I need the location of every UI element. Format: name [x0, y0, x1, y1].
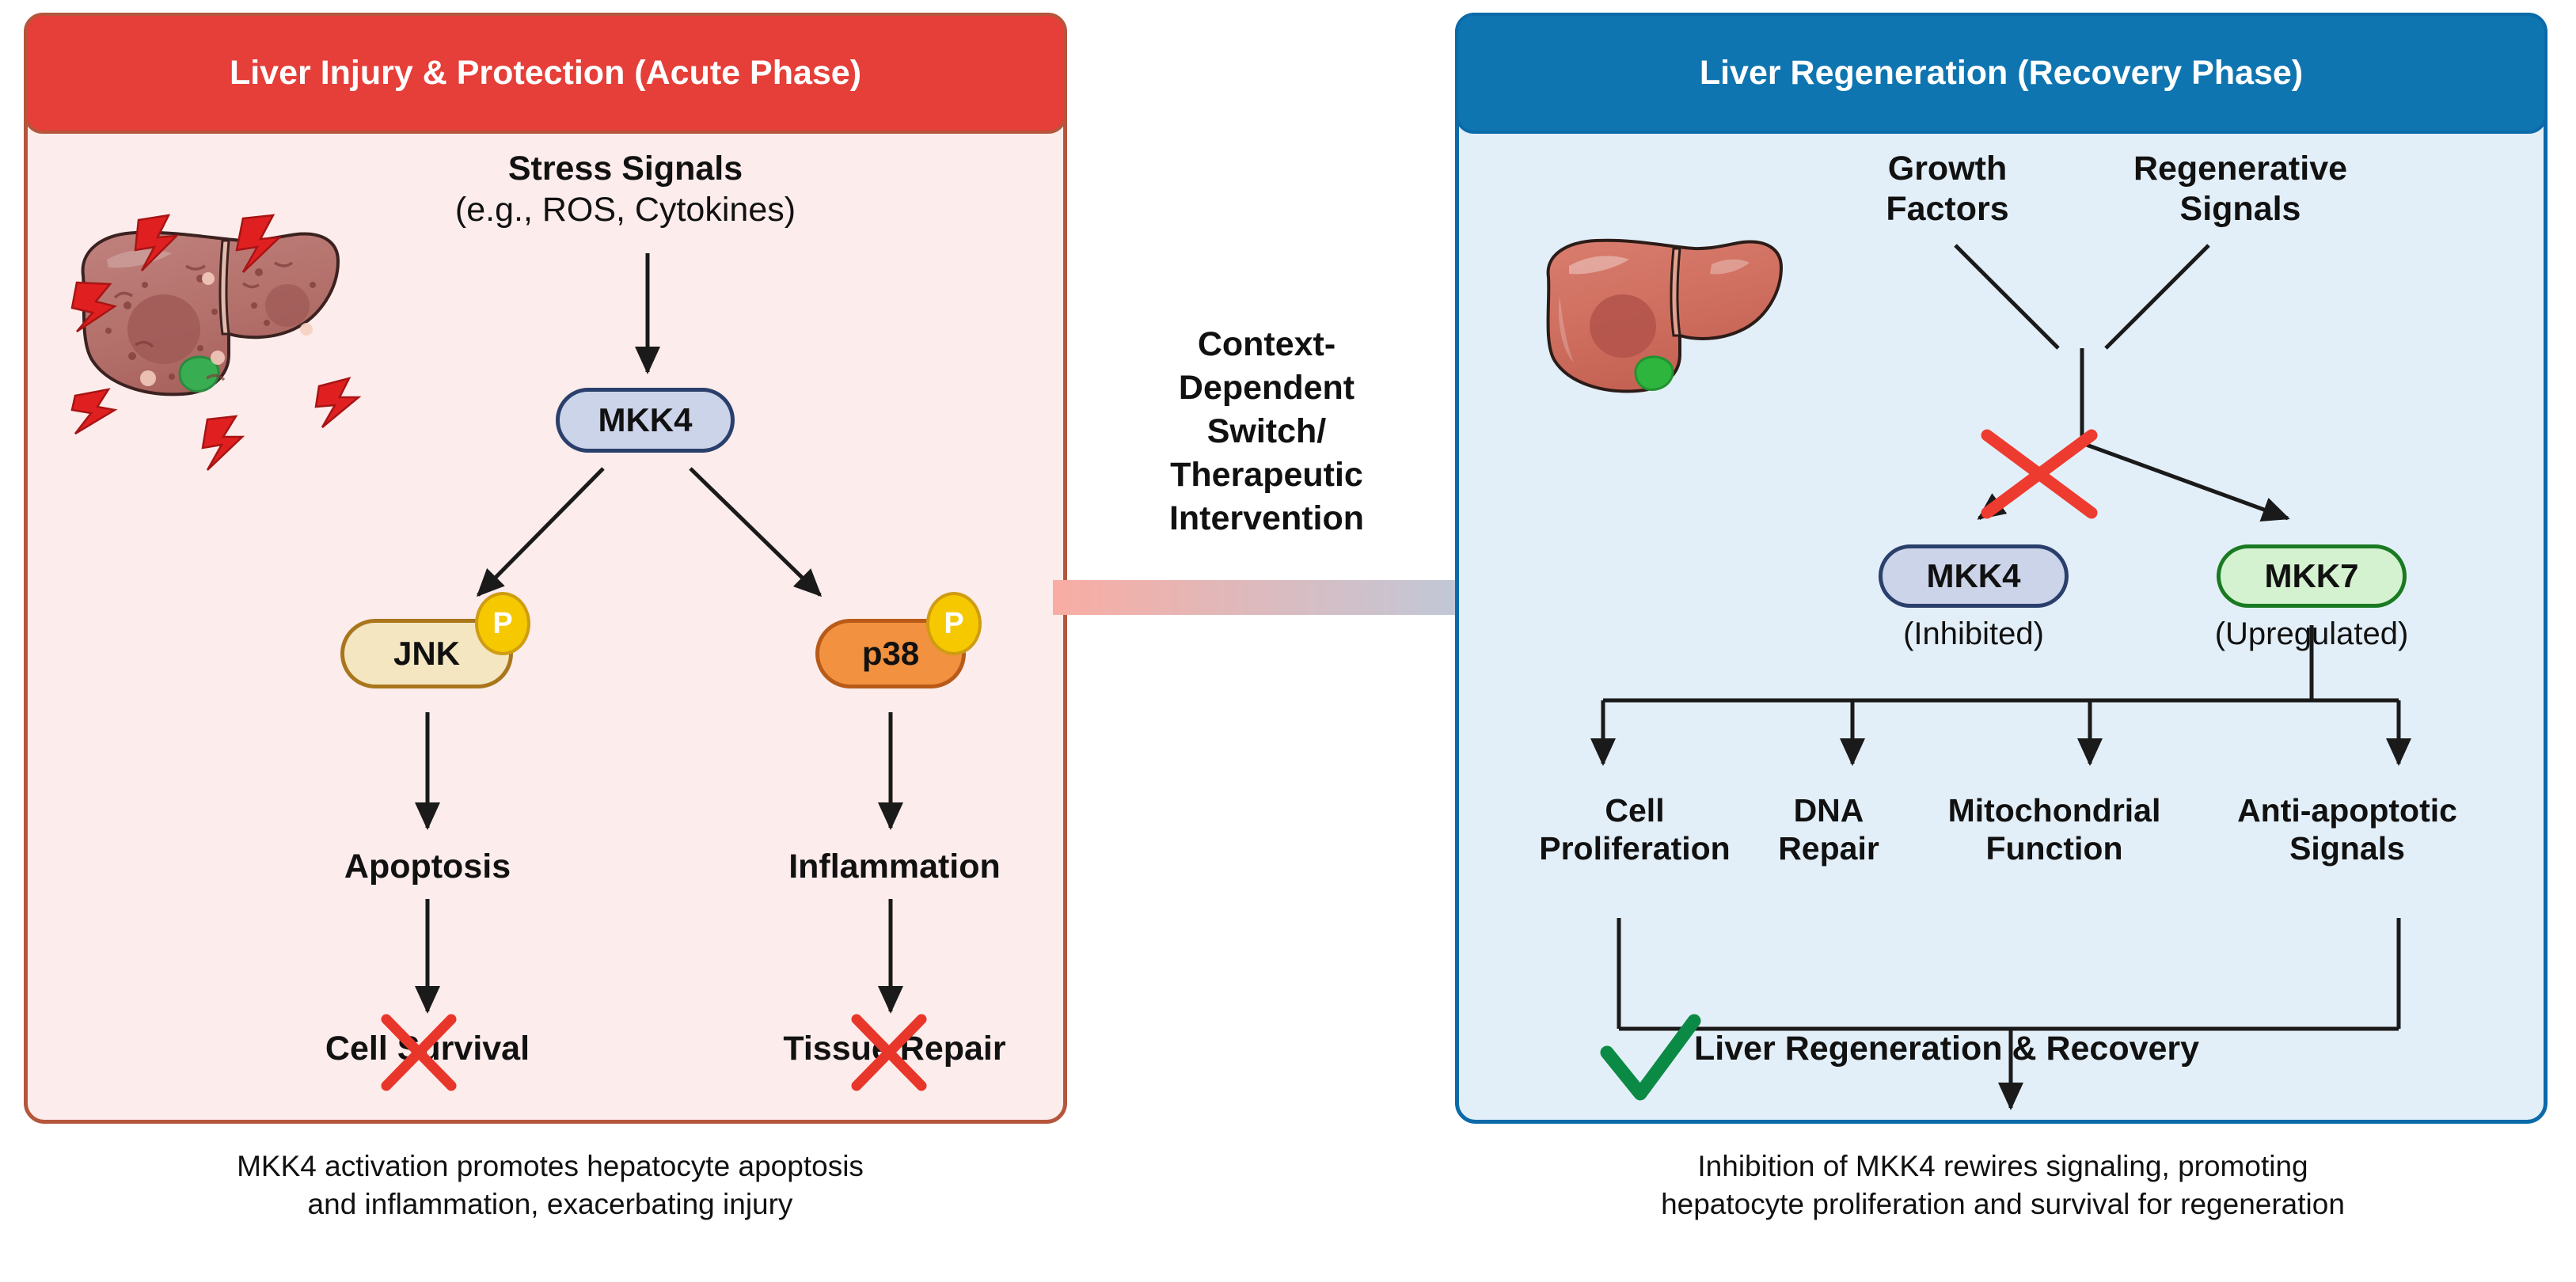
p38-node-label: p38 [862, 635, 919, 673]
outcome-anti-apoptotic-signals: Anti-apoptotic Signals [2185, 791, 2510, 868]
outcome-dna-repair: DNA Repair [1742, 791, 1916, 868]
phospho-badge-p38: P [926, 592, 982, 655]
mkk7-node[interactable]: MKK7 [2217, 544, 2407, 608]
regenerative-signals-label: Regenerative Signals [2082, 149, 2399, 229]
context-switch-label: Context- Dependent Switch/ Therapeutic I… [1116, 323, 1417, 540]
outcome-mitochondrial-function: Mitochondrial Function [1900, 791, 2209, 868]
left-panel-header: Liver Injury & Protection (Acute Phase) [24, 13, 1067, 134]
outcome-cell-proliferation: Cell Proliferation [1508, 791, 1761, 868]
apoptosis-label: Apoptosis [293, 847, 562, 887]
right-panel-header: Liver Regeneration (Recovery Phase) [1455, 13, 2548, 134]
right-panel-caption: Inhibition of MKK4 rewires signaling, pr… [1465, 1147, 2541, 1223]
mkk4-node-right-label: MKK4 [1926, 557, 2020, 595]
mkk4-node-right[interactable]: MKK4 [1879, 544, 2069, 608]
stress-signals-subtitle: (e.g., ROS, Cytokines) [427, 190, 823, 230]
mkk4-state-label: (Inhibited) [1855, 616, 2092, 653]
inflammation-label: Inflammation [752, 847, 1037, 887]
growth-factors-label: Growth Factors [1829, 149, 2066, 229]
tissue-repair-label: Tissue Repair [752, 1029, 1037, 1069]
mkk7-node-label: MKK7 [2264, 557, 2358, 595]
cell-survival-label: Cell Survival [293, 1029, 562, 1069]
left-panel-caption: MKK4 activation promotes hepatocyte apop… [47, 1147, 1053, 1223]
jnk-node-label: JNK [393, 635, 460, 673]
stress-signals-title: Stress Signals [459, 149, 792, 189]
phospho-badge-jnk: P [475, 592, 530, 655]
final-outcome-label: Liver Regeneration & Recovery [1694, 1029, 2407, 1069]
mkk4-node-left-label: MKK4 [598, 401, 692, 439]
mkk4-node-left[interactable]: MKK4 [556, 388, 735, 453]
mkk7-state-label: (Upregulated) [2177, 616, 2446, 653]
